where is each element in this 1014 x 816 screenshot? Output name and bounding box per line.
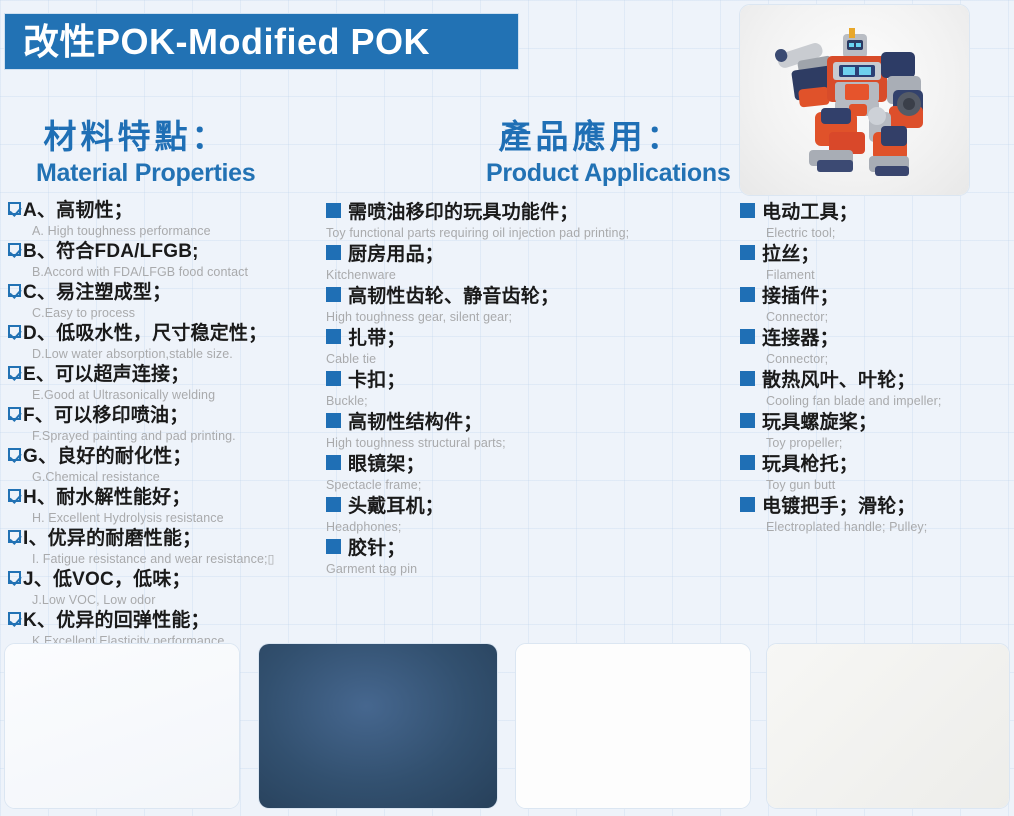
application-middle-item-en: Kitchenware [326, 267, 629, 283]
material-property-item-cn: K、优异的回弹性能； [8, 608, 275, 633]
material-property-item-en: H. Excellent Hydrolysis resistance [8, 510, 275, 526]
application-right-item-en: Electric tool; [740, 225, 941, 241]
application-right-item-en: Electroplated handle; Pulley; [740, 519, 941, 535]
application-right-item-en: Connector; [740, 309, 941, 325]
application-middle-item-cn: 眼镜架； [326, 452, 629, 477]
square-bullet-icon [740, 371, 755, 386]
application-right-item-label: 玩具螺旋桨； [762, 412, 877, 433]
material-property-item-cn: H、耐水解性能好； [8, 485, 275, 510]
material-property-item-label: K、优异的回弹性能； [23, 610, 210, 631]
checkbox-icon [8, 284, 21, 297]
square-bullet-icon [326, 413, 341, 428]
application-middle-item-cn: 厨房用品； [326, 242, 629, 267]
application-middle-item-cn: 胶针； [326, 536, 629, 561]
application-middle-item-en: Toy functional parts requiring oil injec… [326, 225, 629, 241]
application-right-item-cn: 散热风叶、叶轮； [740, 368, 941, 393]
material-property-item: J、低VOC，低味；J.Low VOC, Low odor [8, 567, 275, 608]
application-middle-item-label: 胶针； [348, 538, 406, 559]
application-right-item: 连接器；Connector; [740, 326, 941, 367]
application-right-item: 散热风叶、叶轮；Cooling fan blade and impeller; [740, 368, 941, 409]
square-bullet-icon [740, 497, 755, 512]
application-right-item-en: Toy propeller; [740, 435, 941, 451]
square-bullet-icon [326, 287, 341, 302]
material-property-item-cn: D、低吸水性，尺寸稳定性； [8, 321, 275, 346]
application-right-item-cn: 电镀把手；滑轮； [740, 494, 941, 519]
material-property-item: A、高韧性；A. High toughness performance [8, 198, 275, 239]
applications-heading-cn: 產品應用： [486, 116, 696, 157]
title-banner: 改性POK-Modified POK [4, 13, 519, 70]
material-property-item-label: B、符合FDA/LFGB; [23, 241, 199, 262]
checkbox-icon [8, 571, 21, 584]
material-property-item-en: B.Accord with FDA/LFGB food contact [8, 264, 275, 280]
checkbox-icon [8, 530, 21, 543]
application-middle-item: 厨房用品；Kitchenware [326, 242, 629, 283]
square-bullet-icon [326, 203, 341, 218]
slide-root: 改性POK-Modified POK 材料特點： Material Proper… [0, 0, 1014, 816]
applications-heading-en: Product Applications [486, 158, 696, 188]
material-property-item-en: J.Low VOC, Low odor [8, 592, 275, 608]
material-property-item-label: F、可以移印喷油； [23, 405, 188, 426]
application-middle-item: 眼镜架；Spectacle frame; [326, 452, 629, 493]
application-right-item: 电镀把手；滑轮；Electroplated handle; Pulley; [740, 494, 941, 535]
application-middle-item-label: 需喷油移印的玩具功能件； [348, 202, 578, 223]
application-middle-item-label: 厨房用品； [348, 244, 444, 265]
application-middle-item-en: Garment tag pin [326, 561, 629, 577]
application-middle-item: 头戴耳机；Headphones; [326, 494, 629, 535]
material-property-item: E、可以超声连接；E.Good at Ultrasonically weldin… [8, 362, 275, 403]
material-property-item-cn: E、可以超声连接； [8, 362, 275, 387]
material-property-item-label: J、低VOC，低味； [23, 569, 191, 590]
material-property-item-label: D、低吸水性，尺寸稳定性； [23, 323, 267, 344]
application-middle-item-cn: 高韧性齿轮、静音齿轮； [326, 284, 629, 309]
application-middle-item-label: 眼镜架； [348, 454, 425, 475]
application-middle-item-en: Spectacle frame; [326, 477, 629, 493]
square-bullet-icon [740, 245, 755, 260]
material-properties-heading: 材料特點： Material Properties [36, 116, 236, 188]
material-property-item-cn: J、低VOC，低味； [8, 567, 275, 592]
application-middle-item-label: 高韧性齿轮、静音齿轮； [348, 286, 559, 307]
material-property-item-en: E.Good at Ultrasonically welding [8, 387, 275, 403]
checkbox-icon [8, 325, 21, 338]
application-right-item-cn: 接插件； [740, 284, 941, 309]
square-bullet-icon [326, 497, 341, 512]
material-property-item-en: D.Low water absorption,stable size. [8, 346, 275, 362]
application-right-item: 拉丝；Filament [740, 242, 941, 283]
application-middle-item-cn: 需喷油移印的玩具功能件； [326, 200, 629, 225]
application-middle-item-en: High toughness gear, silent gear; [326, 309, 629, 325]
robot-toy-illustration [769, 20, 941, 180]
rc-car-chassis-photo [258, 643, 498, 809]
square-bullet-icon [740, 413, 755, 428]
checkbox-icon [8, 489, 21, 502]
material-property-item: B、符合FDA/LFGB;B.Accord with FDA/LFGB food… [8, 239, 275, 280]
checkbox-icon [8, 407, 21, 420]
square-bullet-icon [326, 455, 341, 470]
square-bullet-icon [326, 245, 341, 260]
lego-vehicle-photo [4, 643, 240, 809]
application-right-item: 玩具螺旋桨；Toy propeller; [740, 410, 941, 451]
material-property-item: F、可以移印喷油；F.Sprayed painting and pad prin… [8, 403, 275, 444]
material-heading-en: Material Properties [36, 158, 236, 188]
application-middle-item: 高韧性结构件；High toughness structural parts; [326, 410, 629, 451]
robot-toy-photo [739, 4, 970, 196]
buckles-photo [766, 643, 1010, 809]
square-bullet-icon [326, 371, 341, 386]
checkbox-icon [8, 243, 21, 256]
application-right-item-en: Filament [740, 267, 941, 283]
material-property-item: G、良好的耐化性；G.Chemical resistance [8, 444, 275, 485]
square-bullet-icon [326, 329, 341, 344]
application-middle-item-cn: 扎带； [326, 326, 629, 351]
application-middle-item: 需喷油移印的玩具功能件；Toy functional parts requiri… [326, 200, 629, 241]
material-property-item: D、低吸水性，尺寸稳定性；D.Low water absorption,stab… [8, 321, 275, 362]
material-property-item-label: H、耐水解性能好； [23, 487, 191, 508]
page-title: 改性POK-Modified POK [5, 24, 430, 60]
application-right-item-en: Cooling fan blade and impeller; [740, 393, 941, 409]
application-middle-item-label: 头戴耳机； [348, 496, 444, 517]
material-property-item-cn: G、良好的耐化性； [8, 444, 275, 469]
application-right-item-label: 玩具枪托； [762, 454, 858, 475]
square-bullet-icon [326, 539, 341, 554]
applications-list-middle: 需喷油移印的玩具功能件；Toy functional parts requiri… [326, 200, 629, 578]
application-middle-item-cn: 卡扣； [326, 368, 629, 393]
material-property-item: C、易注塑成型；C.Easy to process [8, 280, 275, 321]
application-right-item-label: 接插件； [762, 286, 839, 307]
application-middle-item: 高韧性齿轮、静音齿轮；High toughness gear, silent g… [326, 284, 629, 325]
material-property-item-cn: B、符合FDA/LFGB; [8, 239, 275, 264]
application-right-item-cn: 电动工具； [740, 200, 941, 225]
application-right-item: 接插件；Connector; [740, 284, 941, 325]
material-property-item-en: A. High toughness performance [8, 223, 275, 239]
baby-stroller-photo [515, 643, 751, 809]
square-bullet-icon [740, 203, 755, 218]
material-property-item-en: I. Fatigue resistance and wear resistanc… [8, 551, 275, 567]
material-property-item-cn: I、优异的耐磨性能； [8, 526, 275, 551]
application-right-item-en: Toy gun butt [740, 477, 941, 493]
application-middle-item-en: Buckle; [326, 393, 629, 409]
material-properties-list: A、高韧性；A. High toughness performanceB、符合F… [8, 198, 275, 649]
material-property-item: I、优异的耐磨性能；I. Fatigue resistance and wear… [8, 526, 275, 567]
application-right-item-label: 散热风叶、叶轮； [762, 370, 916, 391]
application-middle-item-label: 卡扣； [348, 370, 406, 391]
application-middle-item-cn: 高韧性结构件； [326, 410, 629, 435]
material-property-item-cn: A、高韧性； [8, 198, 275, 223]
application-right-item-label: 电动工具； [762, 202, 858, 223]
material-property-item-en: F.Sprayed painting and pad printing. [8, 428, 275, 444]
application-right-item-cn: 连接器； [740, 326, 941, 351]
application-middle-item-en: Cable tie [326, 351, 629, 367]
application-middle-item-en: High toughness structural parts; [326, 435, 629, 451]
application-right-item-label: 电镀把手；滑轮； [762, 496, 916, 517]
material-property-item: H、耐水解性能好；H. Excellent Hydrolysis resista… [8, 485, 275, 526]
application-right-item-en: Connector; [740, 351, 941, 367]
application-middle-item-label: 扎带； [348, 328, 406, 349]
application-right-item-cn: 玩具枪托； [740, 452, 941, 477]
material-heading-cn: 材料特點： [36, 116, 236, 157]
application-right-item-cn: 玩具螺旋桨； [740, 410, 941, 435]
material-property-item-label: E、可以超声连接； [23, 364, 189, 385]
application-right-item: 电动工具；Electric tool; [740, 200, 941, 241]
material-property-item-en: C.Easy to process [8, 305, 275, 321]
checkbox-icon [8, 202, 21, 215]
checkbox-icon [8, 448, 21, 461]
application-middle-item: 卡扣；Buckle; [326, 368, 629, 409]
applications-list-right: 电动工具；Electric tool;拉丝；Filament接插件；Connec… [740, 200, 941, 536]
application-middle-item-en: Headphones; [326, 519, 629, 535]
product-applications-heading: 產品應用： Product Applications [486, 116, 696, 188]
application-right-item-label: 拉丝； [762, 244, 820, 265]
material-property-item-label: A、高韧性； [23, 200, 133, 221]
application-middle-item: 扎带；Cable tie [326, 326, 629, 367]
checkbox-icon [8, 366, 21, 379]
material-property-item-label: G、良好的耐化性； [23, 446, 192, 467]
application-right-item-cn: 拉丝； [740, 242, 941, 267]
material-property-item-label: C、易注塑成型； [23, 282, 171, 303]
application-middle-item-cn: 头戴耳机； [326, 494, 629, 519]
square-bullet-icon [740, 455, 755, 470]
application-middle-item: 胶针；Garment tag pin [326, 536, 629, 577]
material-property-item-cn: C、易注塑成型； [8, 280, 275, 305]
square-bullet-icon [740, 329, 755, 344]
application-right-item-label: 连接器； [762, 328, 839, 349]
material-property-item-en: G.Chemical resistance [8, 469, 275, 485]
material-property-item-label: I、优异的耐磨性能； [23, 528, 201, 549]
square-bullet-icon [740, 287, 755, 302]
checkbox-icon [8, 612, 21, 625]
material-property-item-cn: F、可以移印喷油； [8, 403, 275, 428]
application-middle-item-label: 高韧性结构件； [348, 412, 482, 433]
application-right-item: 玩具枪托；Toy gun butt [740, 452, 941, 493]
